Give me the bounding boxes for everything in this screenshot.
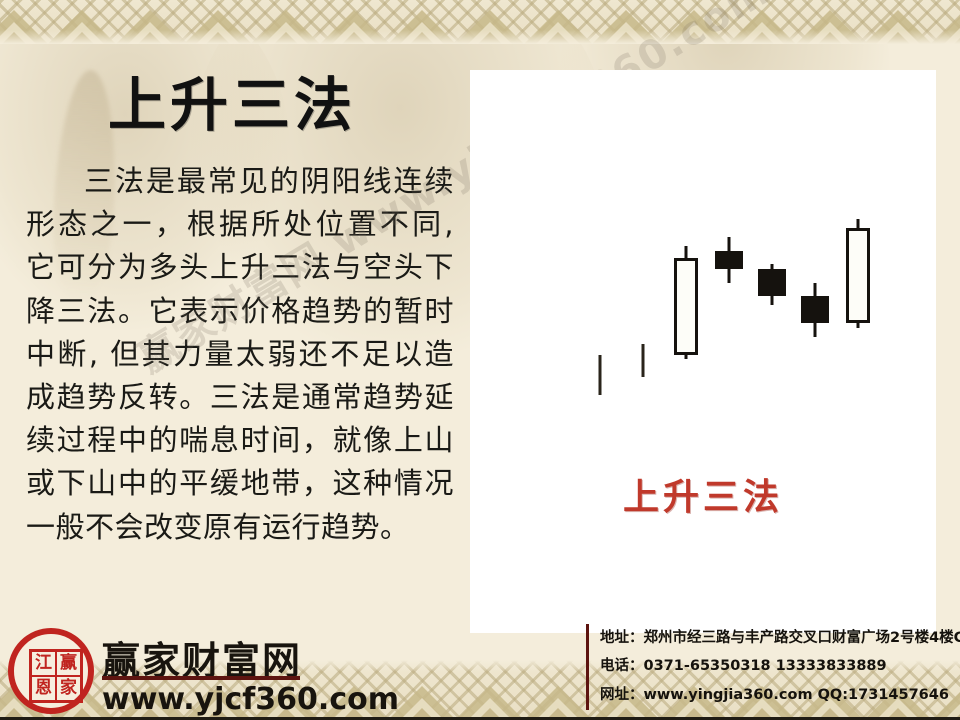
seal-character: 江 [31, 651, 56, 676]
border-triangle-inner [0, 22, 36, 44]
candlestick [801, 283, 829, 337]
border-triangle-inner [468, 22, 512, 44]
body-paragraph: 三法是最常见的阴阳线连续形态之一，根据所处位置不同, 它可分为多头上升三法与空头… [26, 160, 454, 549]
candlestick-body-bearish [758, 269, 786, 296]
border-triangle-row [0, 0, 960, 44]
border-triangle-motif [388, 10, 456, 44]
border-triangle-motif [592, 10, 660, 44]
border-triangle-inner [808, 22, 852, 44]
border-triangle-inner [196, 22, 240, 44]
candlestick-body-bearish [715, 251, 743, 269]
border-triangle-inner [740, 22, 784, 44]
brand-url[interactable]: www.yjcf360.com [102, 682, 399, 717]
border-triangle-inner [400, 22, 444, 44]
contact-line: 网址：www.yingjia360.com QQ:1731457646 [600, 681, 960, 709]
border-triangle-inner [536, 22, 580, 44]
border-triangle-motif [932, 10, 960, 44]
candlestick-body-bearish [801, 296, 829, 323]
candlestick-chart [470, 70, 936, 500]
illustration-panel: 上升三法 [470, 70, 936, 633]
top-decorative-border [0, 0, 960, 44]
candlestick-body-bullish [674, 258, 698, 355]
border-triangle-motif [524, 10, 592, 44]
seal-character: 恩 [31, 676, 56, 701]
chart-caption: 上升三法 [470, 468, 936, 520]
border-pattern-fill [0, 0, 960, 44]
border-triangle-motif [796, 10, 864, 44]
contact-divider [586, 624, 589, 710]
contact-block: 地址：郑州市经三路与丰产路交叉口财富广场2号楼4楼C户电话：0371-65350… [586, 618, 960, 714]
slide-root: 上升三法 三法是最常见的阴阳线连续形态之一，根据所处位置不同, 它可分为多头上升… [0, 0, 960, 720]
border-fade [0, 30, 960, 44]
page-title: 上升三法 [108, 58, 356, 142]
contact-line: 电话：0371-65350318 13333833889 [600, 652, 960, 680]
border-triangle-inner [60, 22, 104, 44]
border-triangle-motif [728, 10, 796, 44]
border-triangle-inner [876, 22, 920, 44]
brand-divider [102, 676, 300, 680]
border-triangle-motif [524, 686, 592, 720]
border-triangle-motif [864, 10, 932, 44]
candlestick-barline [642, 344, 645, 378]
border-triangle-motif [252, 10, 320, 44]
candlestick-body-bullish [846, 228, 870, 323]
contact-lines: 地址：郑州市经三路与丰产路交叉口财富广场2号楼4楼C户电话：0371-65350… [600, 624, 960, 709]
border-triangle-motif [0, 10, 48, 44]
border-triangle-inner [332, 22, 376, 44]
seal-icon: 江赢恩家 [8, 628, 94, 714]
candlestick [715, 237, 743, 282]
seal-character-grid: 江赢恩家 [29, 649, 83, 703]
border-triangle-inner [264, 22, 308, 44]
seal-character: 赢 [56, 651, 81, 676]
border-triangle-inner [944, 22, 960, 44]
border-triangle-inner [672, 22, 716, 44]
candlestick [846, 219, 870, 327]
candlestick [674, 246, 698, 359]
border-triangle-inner [128, 22, 172, 44]
border-triangle-motif [320, 10, 388, 44]
border-triangle-motif [116, 10, 184, 44]
border-triangle-inner [400, 698, 444, 720]
border-triangle-motif [184, 10, 252, 44]
seal-character: 家 [56, 676, 81, 701]
border-triangle-motif [660, 10, 728, 44]
border-triangle-motif [456, 686, 524, 720]
border-triangle-inner [536, 698, 580, 720]
contact-line: 地址：郑州市经三路与丰产路交叉口财富广场2号楼4楼C户 [600, 624, 960, 652]
candlestick-barline [599, 355, 602, 396]
border-triangle-inner [468, 698, 512, 720]
candlestick [758, 264, 786, 305]
border-triangle-motif [48, 10, 116, 44]
brand-logo[interactable]: 江赢恩家 赢家财富网 www.yjcf360.com [6, 626, 306, 716]
candlestick [638, 344, 648, 378]
border-triangle-motif [456, 10, 524, 44]
candlestick [595, 355, 605, 396]
border-triangle-inner [604, 22, 648, 44]
